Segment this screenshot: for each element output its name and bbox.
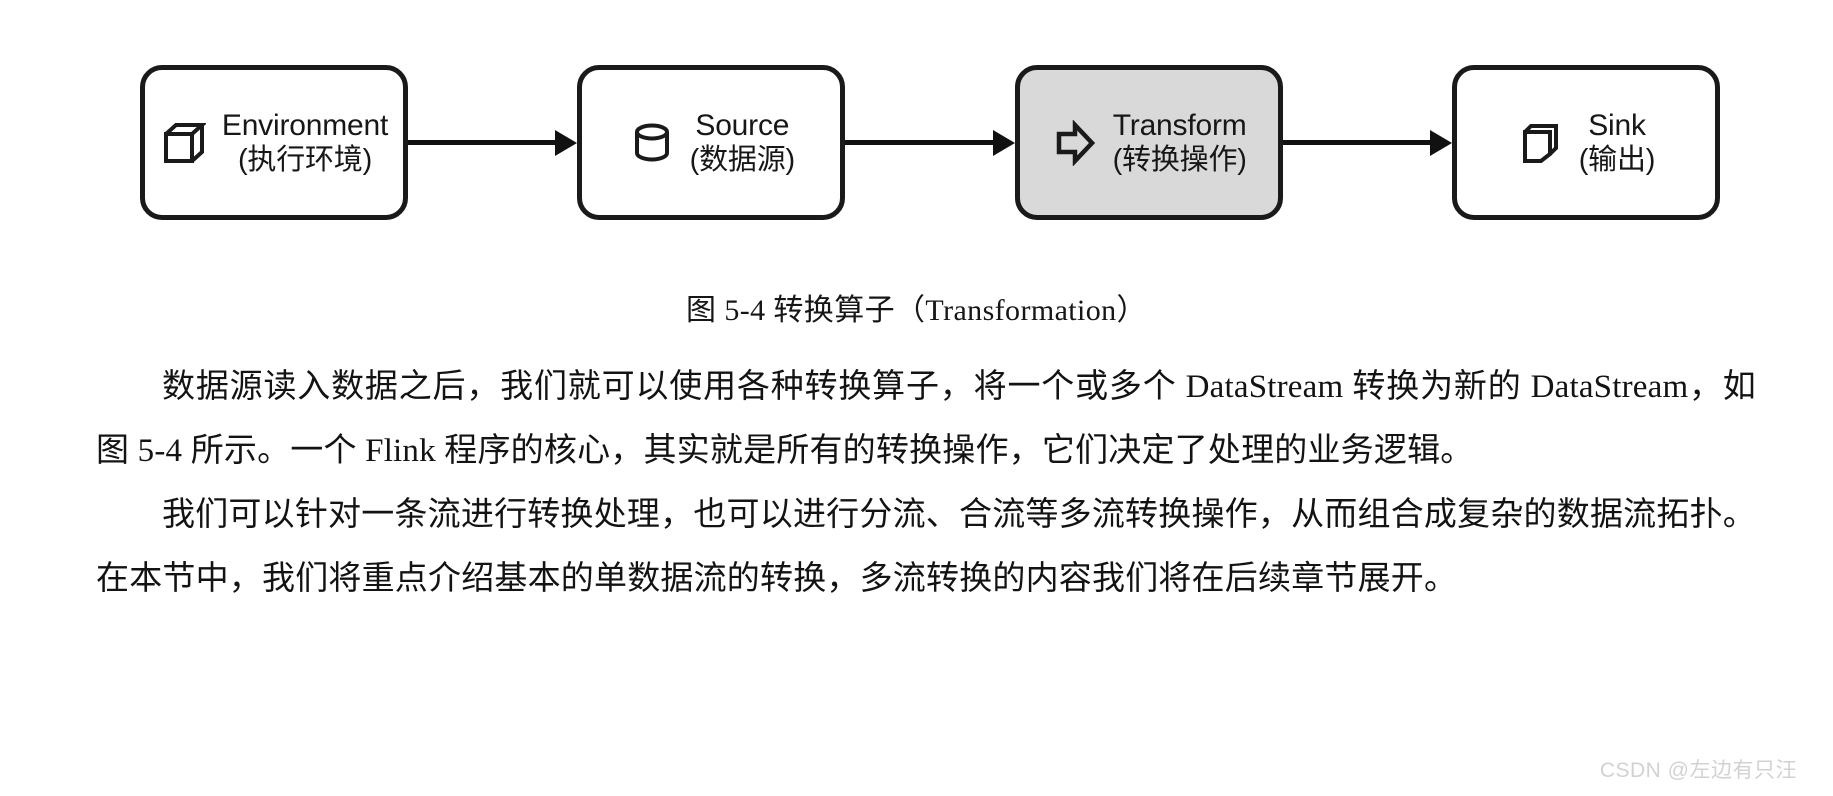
arrow-head [1430,130,1452,156]
flow-node-subtitle: (执行环境) [238,143,372,177]
flow-node-labels: Sink (输出) [1579,108,1656,178]
flow-node-sink[interactable]: Sink (输出) [1452,65,1720,220]
flow-node-subtitle: (输出) [1579,143,1656,177]
flow-node-title: Source [695,108,789,143]
flow-node-subtitle: (数据源) [690,143,795,177]
flow-node-title: Sink [1588,108,1646,143]
arrow-head [555,130,577,156]
figure-caption: 图 5-4 转换算子（Transformation） [0,285,1833,329]
flow-node-source[interactable]: Source (数据源) [577,65,845,220]
csdn-watermark: CSDN @左边有只汪 [1600,754,1797,784]
arrow-right-icon [1283,128,1452,158]
arrow-shaft [845,140,998,145]
flow-node-labels: Environment (执行环境) [222,108,388,178]
flow-node-labels: Transform (转换操作) [1113,108,1247,178]
figure-diagram: Environment (执行环境) Source (数据源) [0,0,1833,250]
paragraph: 数据源读入数据之后，我们就可以使用各种转换算子，将一个或多个 DataStrea… [96,355,1756,483]
arrow-right-icon [845,128,1014,158]
flow-node-labels: Source (数据源) [690,108,795,178]
document-page-icon [1517,117,1565,169]
arrow-head [993,130,1015,156]
paragraph: 我们可以针对一条流进行转换处理，也可以进行分流、合流等多流转换操作，从而组合成复… [96,483,1756,611]
flow-node-environment[interactable]: Environment (执行环境) [140,65,408,220]
flow-node-subtitle: (转换操作) [1113,143,1247,177]
cube-icon [160,117,208,169]
flow-node-title: Environment [222,108,388,143]
right-arrow-block-icon [1051,117,1099,169]
arrow-shaft [1283,140,1436,145]
document-body: 数据源读入数据之后，我们就可以使用各种转换算子，将一个或多个 DataStrea… [96,355,1756,611]
arrow-right-icon [408,128,577,158]
flow-node-transform[interactable]: Transform (转换操作) [1015,65,1283,220]
flow-node-title: Transform [1113,108,1247,143]
database-cylinder-icon [628,117,676,169]
flow-pipeline: Environment (执行环境) Source (数据源) [140,60,1720,225]
arrow-shaft [408,140,561,145]
